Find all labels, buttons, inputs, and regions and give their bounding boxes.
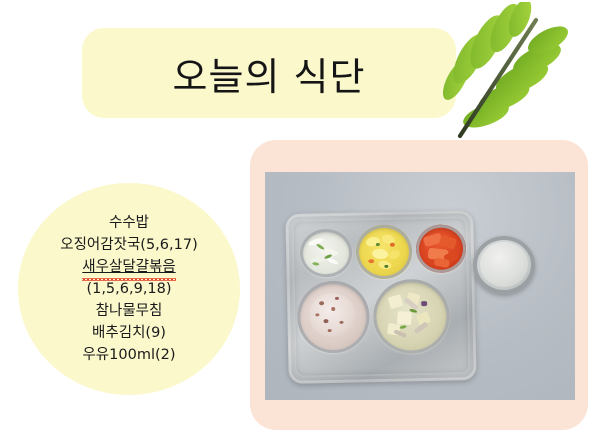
school-lunch-tray-photo (265, 172, 575, 400)
namul-compartment (300, 229, 353, 278)
page-title: 오늘의 식단 (82, 28, 456, 118)
menu-line: 참나물무침 (96, 300, 163, 322)
menu-poster: 오늘의 식단 (0, 0, 600, 435)
milk-surface (480, 242, 528, 287)
lunch-tray (285, 210, 477, 384)
menu-line: 새우살달걀볶음 (82, 256, 175, 278)
menu-line: 우유100ml(2) (82, 344, 175, 366)
menu-line: 수수밥 (109, 212, 149, 234)
menu-item-list: 수수밥 오징어감잣국(5,6,17) 새우살달걀볶음 (1,5,6,9,18) … (18, 183, 240, 395)
milk-cup (473, 236, 535, 294)
namul-food (300, 229, 353, 278)
menu-line: 오징어감잣국(5,6,17) (60, 234, 197, 256)
menu-line: 배추김치(9) (92, 322, 166, 344)
menu-line: (1,5,6,9,18) (86, 278, 171, 300)
